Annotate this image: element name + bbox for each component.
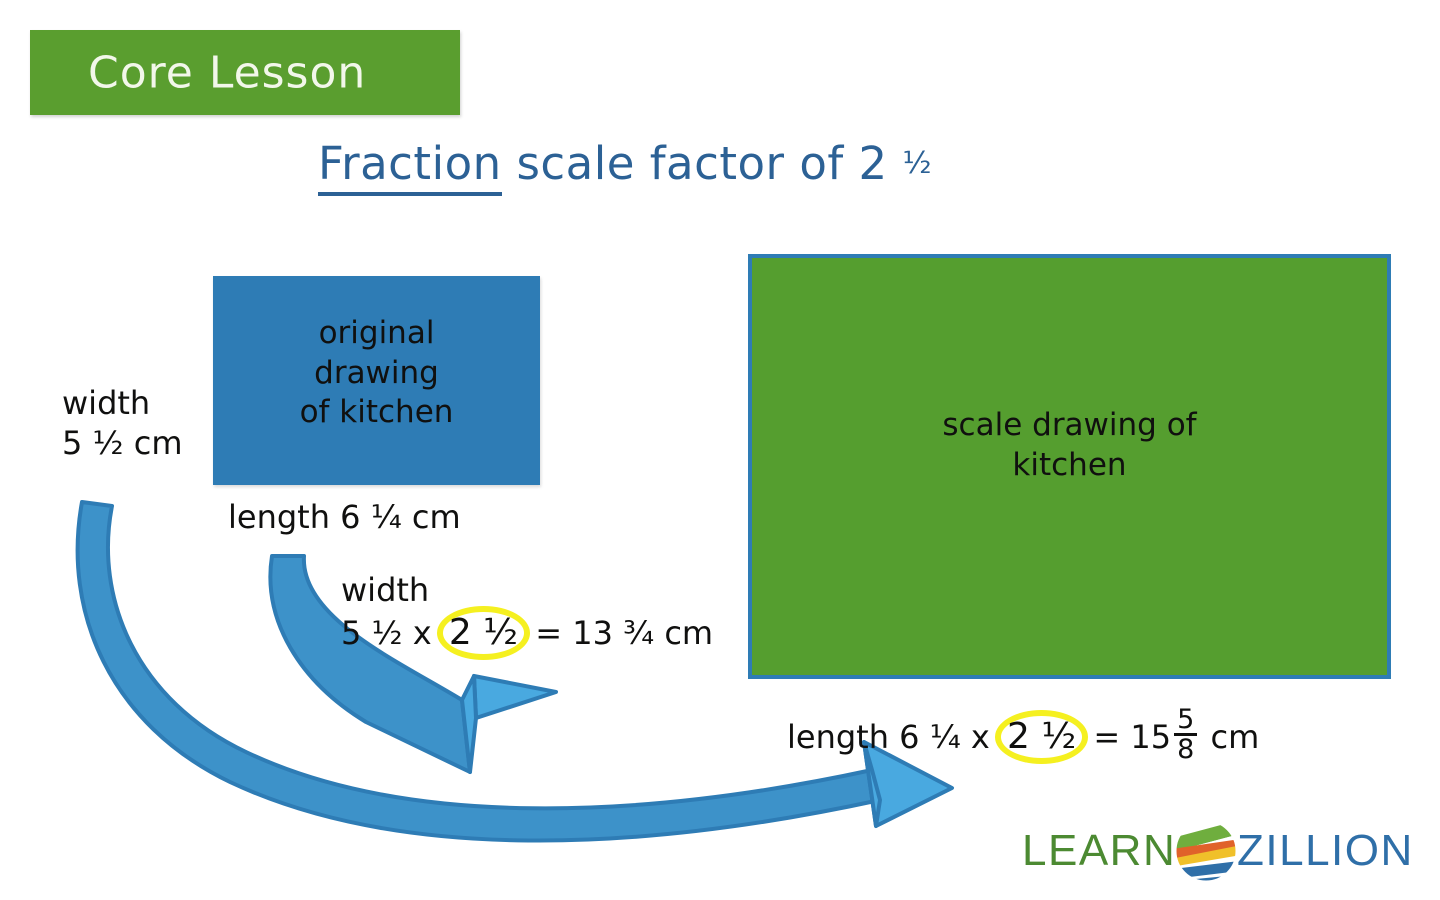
length-result-whole: 15	[1130, 718, 1171, 756]
original-drawing-rect: original drawing of kitchen	[213, 276, 540, 485]
width-equation: width 5 ½ x 2 ½ = 13 ¾ cm	[341, 570, 713, 655]
core-lesson-badge-label: Core Lesson	[88, 47, 366, 98]
scale-drawing-rect: scale drawing of kitchen	[748, 254, 1391, 679]
length-result-fraction: 58	[1174, 706, 1197, 763]
original-width-value: 5 ½ cm	[62, 424, 182, 462]
length-times-symbol: x	[971, 718, 990, 756]
length-result-numerator: 5	[1174, 706, 1197, 733]
length-operand-a: 6 ¼	[899, 718, 961, 756]
width-operand-a: 5 ½	[341, 614, 403, 652]
logo-zillion-text: ZILLION	[1237, 826, 1414, 876]
original-drawing-label: original drawing of kitchen	[213, 314, 540, 433]
original-label-line2: drawing	[314, 355, 439, 391]
page-title: Fraction scale factor of 2 ½	[318, 137, 932, 190]
original-width-label: width 5 ½ cm	[62, 383, 182, 463]
title-underlined-word: Fraction	[318, 137, 502, 196]
length-scale-factor-highlight: 2 ½	[1000, 716, 1083, 757]
logo-learn-text: LEARN	[1022, 826, 1176, 876]
length-unit: cm	[1210, 718, 1259, 756]
original-label-line3: of kitchen	[300, 394, 454, 430]
length-equation: length 6 ¼ x 2 ½ = 1558 cm	[787, 706, 1259, 763]
scale-label-line2: kitchen	[1012, 447, 1126, 483]
width-unit: cm	[664, 614, 713, 652]
original-width-caption: width	[62, 384, 150, 422]
scale-label-line1: scale drawing of	[942, 407, 1196, 443]
scale-drawing-label: scale drawing of kitchen	[752, 406, 1387, 485]
length-equation-caption: length	[787, 718, 889, 756]
width-result: 13 ¾	[572, 614, 654, 652]
length-result-denominator: 8	[1174, 733, 1197, 763]
original-label-line1: original	[319, 315, 435, 351]
slide-canvas: Core Lesson Fraction scale factor of 2 ½…	[0, 0, 1440, 900]
width-equation-caption: width	[341, 571, 429, 609]
title-fraction: ½	[902, 146, 932, 181]
width-equals-symbol: =	[535, 614, 562, 652]
title-rest: scale factor of 2	[502, 137, 903, 190]
length-equals-symbol: =	[1093, 718, 1120, 756]
width-scale-factor-highlight: 2 ½	[442, 610, 525, 655]
core-lesson-badge: Core Lesson	[30, 30, 460, 115]
original-length-label: length 6 ¼ cm	[228, 498, 461, 536]
width-times-symbol: x	[413, 614, 432, 652]
learnzillion-logo: LEARN ZILLION	[1022, 820, 1422, 882]
globe-icon	[1175, 820, 1237, 882]
